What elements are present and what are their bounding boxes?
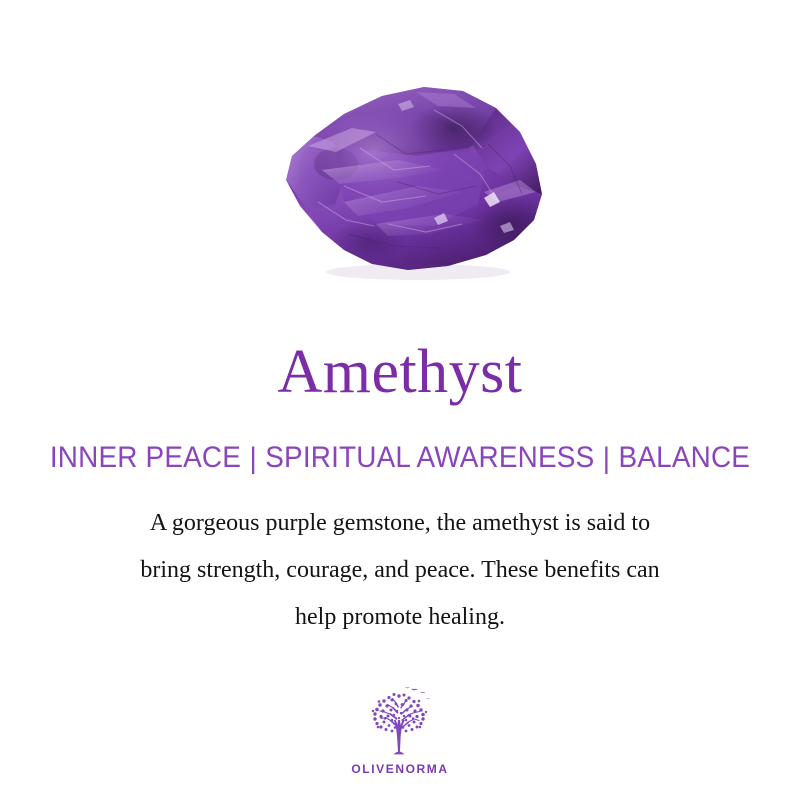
brand-wordmark: OLIVENORMA [0, 762, 800, 776]
product-description: A gorgeous purple gemstone, the amethyst… [55, 500, 745, 641]
keyword-separator: | [594, 441, 618, 477]
keyword-spiritual-awareness: SPIRITUAL AWARENESS [265, 441, 594, 474]
description-line-3: help promote healing. [55, 594, 745, 641]
tree-of-life-icon [359, 684, 441, 760]
keyword-balance: BALANCE [619, 441, 751, 474]
amethyst-gemstone-illustration [248, 74, 554, 289]
keyword-separator: | [241, 441, 265, 477]
page-title: Amethyst [0, 336, 800, 408]
product-info-card: Amethyst INNER PEACE|SPIRITUAL AWARENESS… [0, 0, 800, 800]
brand-logo: OLIVENORMA [0, 684, 800, 776]
description-line-1: A gorgeous purple gemstone, the amethyst… [55, 500, 745, 547]
keyword-inner-peace: INNER PEACE [50, 441, 241, 474]
hero-image-area [0, 0, 800, 315]
keyword-list: INNER PEACE|SPIRITUAL AWARENESS|BALANCE [28, 440, 772, 476]
amethyst-gemstone-image [248, 74, 554, 289]
description-line-2: bring strength, courage, and peace. Thes… [55, 547, 745, 594]
